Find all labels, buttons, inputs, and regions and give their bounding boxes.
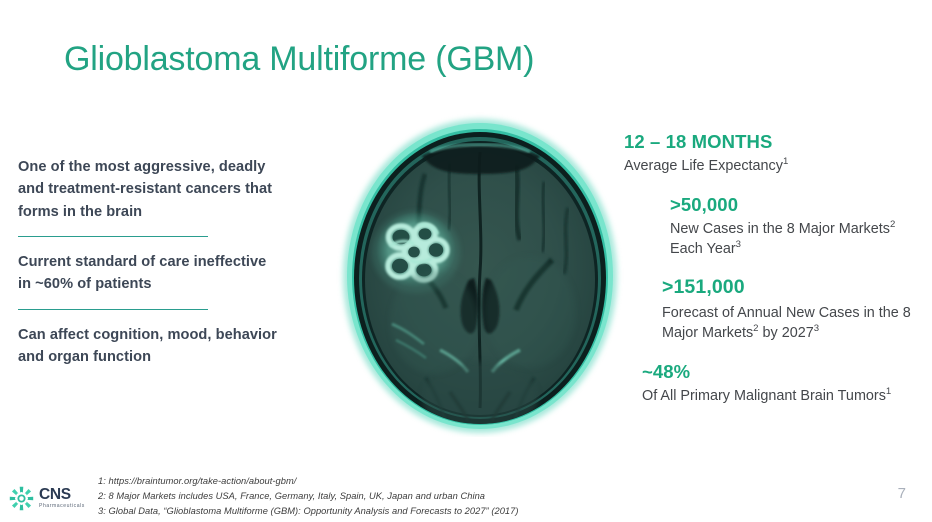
footnote-item: 1: https://braintumor.org/take-action/ab… (98, 474, 519, 489)
footnote-ref: 3 (814, 323, 819, 334)
stat-label: New Cases in the 8 Major Markets2 Each Y… (670, 219, 924, 260)
stat-value: >50,000 (670, 193, 924, 217)
logo-name: CNS (39, 487, 85, 503)
statistics-list: 12 – 18 MONTHS Average Life Expectancy1 … (624, 130, 924, 422)
brain-mri-image (330, 112, 630, 437)
list-item: One of the most aggressive, deadly and t… (18, 156, 278, 223)
footnote-ref: 2 (890, 219, 895, 230)
footnote-ref: 3 (736, 239, 741, 250)
stat-value: ~48% (642, 360, 924, 384)
divider (18, 236, 208, 237)
footnote-item: 2: 8 Major Markets includes USA, France,… (98, 489, 519, 504)
brain-mri-svg (330, 112, 630, 437)
stat-value: >151,000 (662, 275, 924, 300)
divider (18, 309, 208, 310)
stat-block-life-expectancy: 12 – 18 MONTHS Average Life Expectancy1 (624, 130, 924, 177)
stat-label-text: Average Life Expectancy (624, 158, 783, 174)
footnote-item: 3: Global Data, “Glioblastoma Multiforme… (98, 504, 519, 519)
stat-block-forecast: >151,000 Forecast of Annual New Cases in… (662, 275, 924, 343)
list-item: Current standard of care ineffective in … (18, 251, 278, 296)
stat-label: Average Life Expectancy1 (624, 156, 924, 176)
slide-glioblastoma-multiforme: Glioblastoma Multiforme (GBM) One of the… (0, 0, 932, 522)
footnote-ref: 1 (783, 156, 788, 167)
footnotes: 1: https://braintumor.org/take-action/ab… (98, 474, 519, 519)
footnote-ref: 1 (886, 386, 891, 397)
cns-starburst-icon (8, 485, 35, 512)
stat-block-percent-tumors: ~48% Of All Primary Malignant Brain Tumo… (642, 360, 924, 407)
stat-label-text: Of All Primary Malignant Brain Tumors (642, 388, 886, 404)
page-number: 7 (898, 485, 906, 502)
stat-label-text: New Cases in the 8 Major Markets (670, 221, 890, 237)
stat-block-new-cases: >50,000 New Cases in the 8 Major Markets… (670, 193, 924, 260)
list-item: Can affect cognition, mood, behavior and… (18, 324, 278, 369)
stat-label: Of All Primary Malignant Brain Tumors1 (642, 386, 924, 406)
stat-label-tail: Each Year (670, 241, 736, 257)
stat-label-tail: by 2027 (759, 325, 814, 341)
stat-value: 12 – 18 MONTHS (624, 130, 924, 154)
page-title: Glioblastoma Multiforme (GBM) (64, 40, 534, 79)
cns-pharmaceuticals-logo: CNS Pharmaceuticals (8, 482, 94, 514)
stat-label: Forecast of Annual New Cases in the 8 Ma… (662, 303, 924, 344)
key-facts-list: One of the most aggressive, deadly and t… (18, 156, 278, 368)
logo-text: CNS Pharmaceuticals (39, 487, 85, 509)
logo-subtitle: Pharmaceuticals (39, 504, 85, 509)
